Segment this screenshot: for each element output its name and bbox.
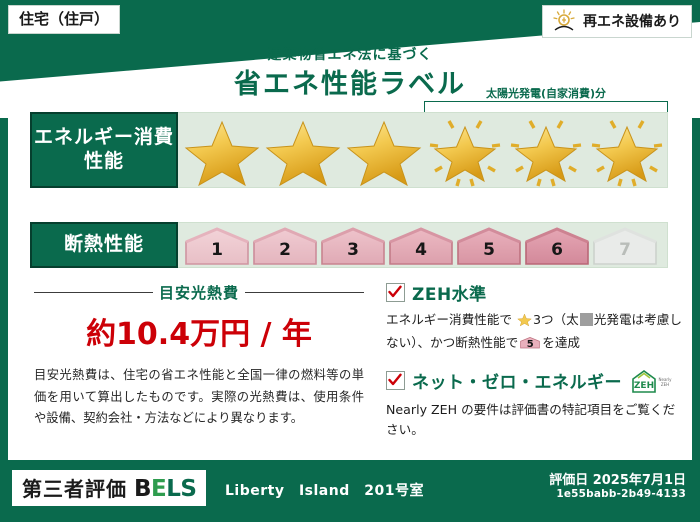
energy-performance-label: 住宅（住戸） 再エネ設備あり 建築物省エネ法に基づく 省エネ性能ラベル (0, 0, 700, 522)
grade-number-inline: 5 (520, 337, 540, 353)
zeh-standard-header: ZEH水準 (386, 280, 684, 305)
grade-number: 3 (320, 240, 386, 260)
star-rating (182, 115, 667, 187)
grade-badge-4: 4 (388, 226, 454, 266)
insulation-performance-label: 断熱性能 (30, 222, 178, 268)
grade-scale: 1 2 (184, 226, 658, 266)
grade-number: 2 (252, 240, 318, 260)
grade-badge-7-inactive: 7 (592, 226, 658, 266)
building-name: Liberty Island 201号室 (225, 480, 424, 500)
third-party-label: 第三者評価 (22, 473, 127, 502)
bels-letter-e: E (151, 476, 166, 502)
grade-number: 7 (592, 240, 658, 260)
evaluation-id: 1e55babb-2b49-4133 (556, 488, 686, 500)
checkbox-checked-icon (386, 283, 405, 302)
checkbox-checked-icon (386, 371, 405, 390)
grade-badge-2: 2 (252, 226, 318, 266)
star-icon (517, 312, 532, 333)
footer-bar: 第三者評価 BELS Liberty Island 201号室 評価日 2025… (0, 462, 700, 522)
heading-rule-right (245, 292, 364, 293)
label-subtitle: 建築物省エネ法に基づく (0, 44, 700, 64)
zeh-standard-title: ZEH水準 (412, 280, 487, 305)
grade-badge-5: 5 (456, 226, 522, 266)
utility-cost-note: 目安光熱費は、住宅の省エネ性能と全国一律の燃料等の単価を用いて算出したものです。… (34, 365, 364, 430)
renewable-badge-label: 再エネ設備あり (583, 11, 681, 31)
energy-performance-label: エネルギー消費性能 (30, 112, 178, 188)
label-title: 省エネ性能ラベル (0, 62, 700, 101)
energy-stars-area: 太陽光発電(自家消費)分 (178, 112, 668, 188)
utility-cost-value: 約10.4万円 / 年 (34, 309, 364, 353)
insulation-grades-area: 1 2 (178, 222, 668, 268)
utility-cost-heading: 目安光熱費 (34, 282, 364, 303)
bels-letter-b: B (134, 476, 151, 502)
zeh-desc-part1: エネルギー消費性能で (386, 312, 512, 327)
zeh-desc-star-count: 3つ（太 (533, 312, 579, 327)
svg-text:ZEH: ZEH (661, 382, 669, 387)
svg-text:ZEH: ZEH (634, 381, 654, 391)
star-solar (425, 115, 505, 187)
net-zero-description: Nearly ZEH の要件は評価書の特記項目をご覧ください。 (386, 400, 684, 441)
star-filled (344, 115, 424, 187)
grade-badge-3: 3 (320, 226, 386, 266)
utility-cost-heading-text: 目安光熱費 (159, 282, 239, 303)
redacted-character (580, 313, 593, 326)
star-solar (587, 115, 667, 187)
bels-logo: 第三者評価 BELS (12, 470, 206, 506)
renewable-equipment-badge: 再エネ設備あり (542, 5, 692, 38)
grade-number: 4 (388, 240, 454, 260)
energy-performance-row: エネルギー消費性能 太陽光発電(自家消費)分 (30, 112, 668, 188)
grade-number: 6 (524, 240, 590, 260)
grade-badge-1: 1 (184, 226, 250, 266)
zeh-logo-icon: ZEH Nearly ZEH (629, 367, 677, 395)
grade-badge-6: 6 (524, 226, 590, 266)
star-filled (263, 115, 343, 187)
insulation-performance-row: 断熱性能 1 (30, 222, 668, 268)
net-zero-header: ネット・ゼロ・エネルギー ZEH Nearly ZEH (386, 367, 684, 395)
zeh-desc-part3: を達成 (542, 335, 580, 350)
zeh-section: ZEH水準 エネルギー消費性能で 3つ（太光発電は考慮しない）、かつ断熱性能で … (386, 280, 684, 441)
bels-wordmark: BELS (134, 476, 196, 502)
bels-letters-ls: LS (166, 476, 196, 502)
utility-cost-section: 目安光熱費 約10.4万円 / 年 目安光熱費は、住宅の省エネ性能と全国一律の燃… (34, 282, 364, 430)
solar-bracket (424, 101, 668, 112)
net-zero-title: ネット・ゼロ・エネルギー (412, 368, 622, 393)
star-solar (506, 115, 586, 187)
grade-number: 1 (184, 240, 250, 260)
content-panel: エネルギー消費性能 太陽光発電(自家消費)分 (8, 100, 692, 460)
grade-badge-inline: 5 (520, 335, 540, 350)
heading-rule-left (34, 292, 153, 293)
star-filled (182, 115, 262, 187)
sun-icon (551, 9, 577, 33)
evaluation-date: 評価日 2025年7月1日 (549, 469, 686, 488)
grade-number: 5 (456, 240, 522, 260)
building-type-badge: 住宅（住戸） (8, 5, 120, 34)
zeh-standard-description: エネルギー消費性能で 3つ（太光発電は考慮しない）、かつ断熱性能で 5 を達成 (386, 310, 684, 354)
